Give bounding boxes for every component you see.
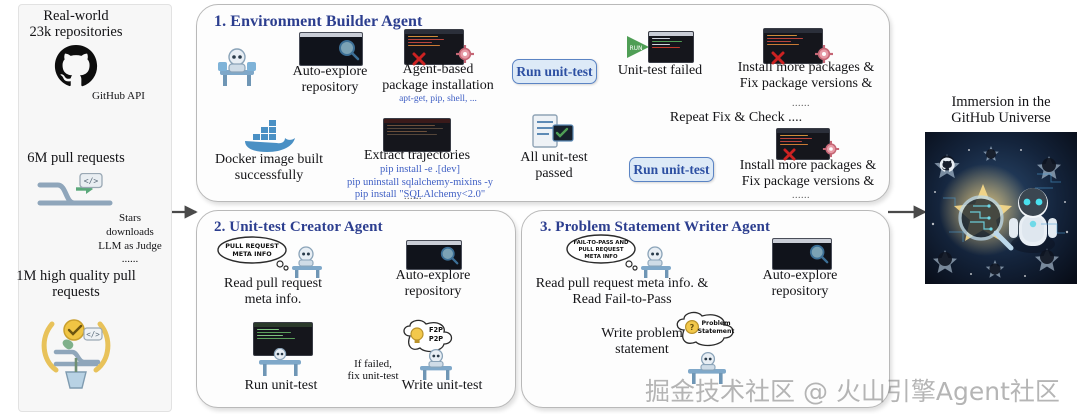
left-edge1-label: GitHub API [92, 90, 172, 102]
run-unit-test-bottom-button[interactable]: Run unit-test [629, 157, 714, 182]
svg-text:F2P: F2P [429, 326, 443, 334]
robot-at-desk-icon-2 [255, 348, 307, 378]
checklist-pass-icon [531, 113, 575, 151]
svg-text:FAIL-TO-PASS AND: FAIL-TO-PASS AND [574, 240, 629, 246]
github-logo-icon [53, 44, 99, 90]
file-explorer-magnifier-icon-2 [406, 240, 462, 270]
svg-text:PULL REQUEST: PULL REQUEST [225, 242, 279, 250]
svg-text:</>: </> [86, 330, 100, 339]
svg-text:META INFO: META INFO [232, 250, 272, 258]
agent1-install-more-bottom-label: Install more packages & Fix package vers… [726, 158, 890, 189]
agent1-unit-test-failed-label: Unit-test failed [608, 63, 712, 79]
file-explorer-magnifier-icon-3 [772, 238, 832, 270]
agent1-ellipsis-2: ...... [792, 190, 810, 201]
agent1-repeat-fix-label: Repeat Fix & Check .... [664, 110, 808, 126]
robot-thought-fail-to-pass-icon: FAIL-TO-PASS AND PULL REQUEST META INFO [565, 234, 675, 278]
agent3-read-meta-label: Read pull request meta info. & Read Fail… [528, 276, 716, 307]
left-step2-label: 6M pull requests [6, 150, 146, 166]
gear-icon [455, 44, 475, 64]
agent1-all-passed-label: All unit-test passed [511, 150, 597, 181]
agent1-install-more-top-label: Install more packages & Fix package vers… [724, 60, 888, 91]
svg-text:Problem: Problem [701, 320, 730, 327]
docker-whale-icon [239, 116, 301, 154]
right-title: Immersion in the GitHub Universe [928, 94, 1074, 126]
robot-at-desk-icon [216, 44, 258, 88]
agent1-title: 1. Environment Builder Agent [214, 13, 422, 31]
svg-text:P2P: P2P [429, 335, 443, 343]
file-explorer-magnifier-icon [299, 32, 363, 66]
agent1-package-install-label: Agent-based package installation [374, 62, 502, 93]
agent2-read-meta-label: Read pull request meta info. [206, 276, 340, 307]
svg-text:RUN: RUN [629, 45, 642, 52]
agent1-package-install-sub: apt-get, pip, shell, ... [380, 94, 496, 105]
agent1-auto-explore-label: Auto-explore repository [274, 64, 386, 95]
left-step3-label: 1M high quality pull requests [2, 268, 150, 300]
agent2-loop-label: If failed, fix unit-test [332, 358, 414, 383]
pull-request-merge-icon: </> [36, 173, 114, 215]
agent1-extract-trajectories-label: Extract trajectories [352, 148, 482, 164]
figure-root: Real-world 23k repositories GitHub API 6… [0, 0, 1080, 414]
gear-icon-3 [822, 140, 840, 158]
left-step1-label: Real-world 23k repositories [10, 8, 142, 40]
left-filter-criteria: Stars downloads LLM as Judge ...... [88, 212, 172, 267]
robot-in-github-universe-illustration [925, 132, 1077, 284]
agent2-title: 2. Unit-test Creator Agent [214, 219, 383, 236]
robot-writing-icon-2 [682, 350, 734, 386]
run-unit-test-top-button[interactable]: Run unit-test [512, 59, 597, 84]
agent1-ellipsis-1: ...... [792, 98, 810, 109]
agent1-docker-built-label: Docker image built successfully [202, 152, 336, 183]
quality-award-plant-icon: </> [36, 312, 116, 390]
agent3-auto-explore-label: Auto-explore repository [744, 268, 856, 299]
svg-text:Statement: Statement [698, 328, 735, 335]
terminal-log-icon [383, 118, 451, 152]
svg-text:</>: </> [84, 177, 99, 186]
agent2-run-unit-test-label: Run unit-test [234, 378, 328, 394]
svg-text:PULL REQUEST: PULL REQUEST [578, 247, 623, 253]
robot-writing-icon [414, 348, 460, 382]
test-results-terminal-icon [648, 31, 694, 63]
agent3-write-problem-label: Write problem statement [588, 326, 696, 357]
agent2-auto-explore-label: Auto-explore repository [378, 268, 488, 299]
agent1-ellipsis-3: ...... [404, 191, 422, 202]
svg-text:META INFO: META INFO [584, 254, 618, 260]
robot-thought-pull-request-meta-icon: PULL REQUEST META INFO [216, 236, 326, 278]
